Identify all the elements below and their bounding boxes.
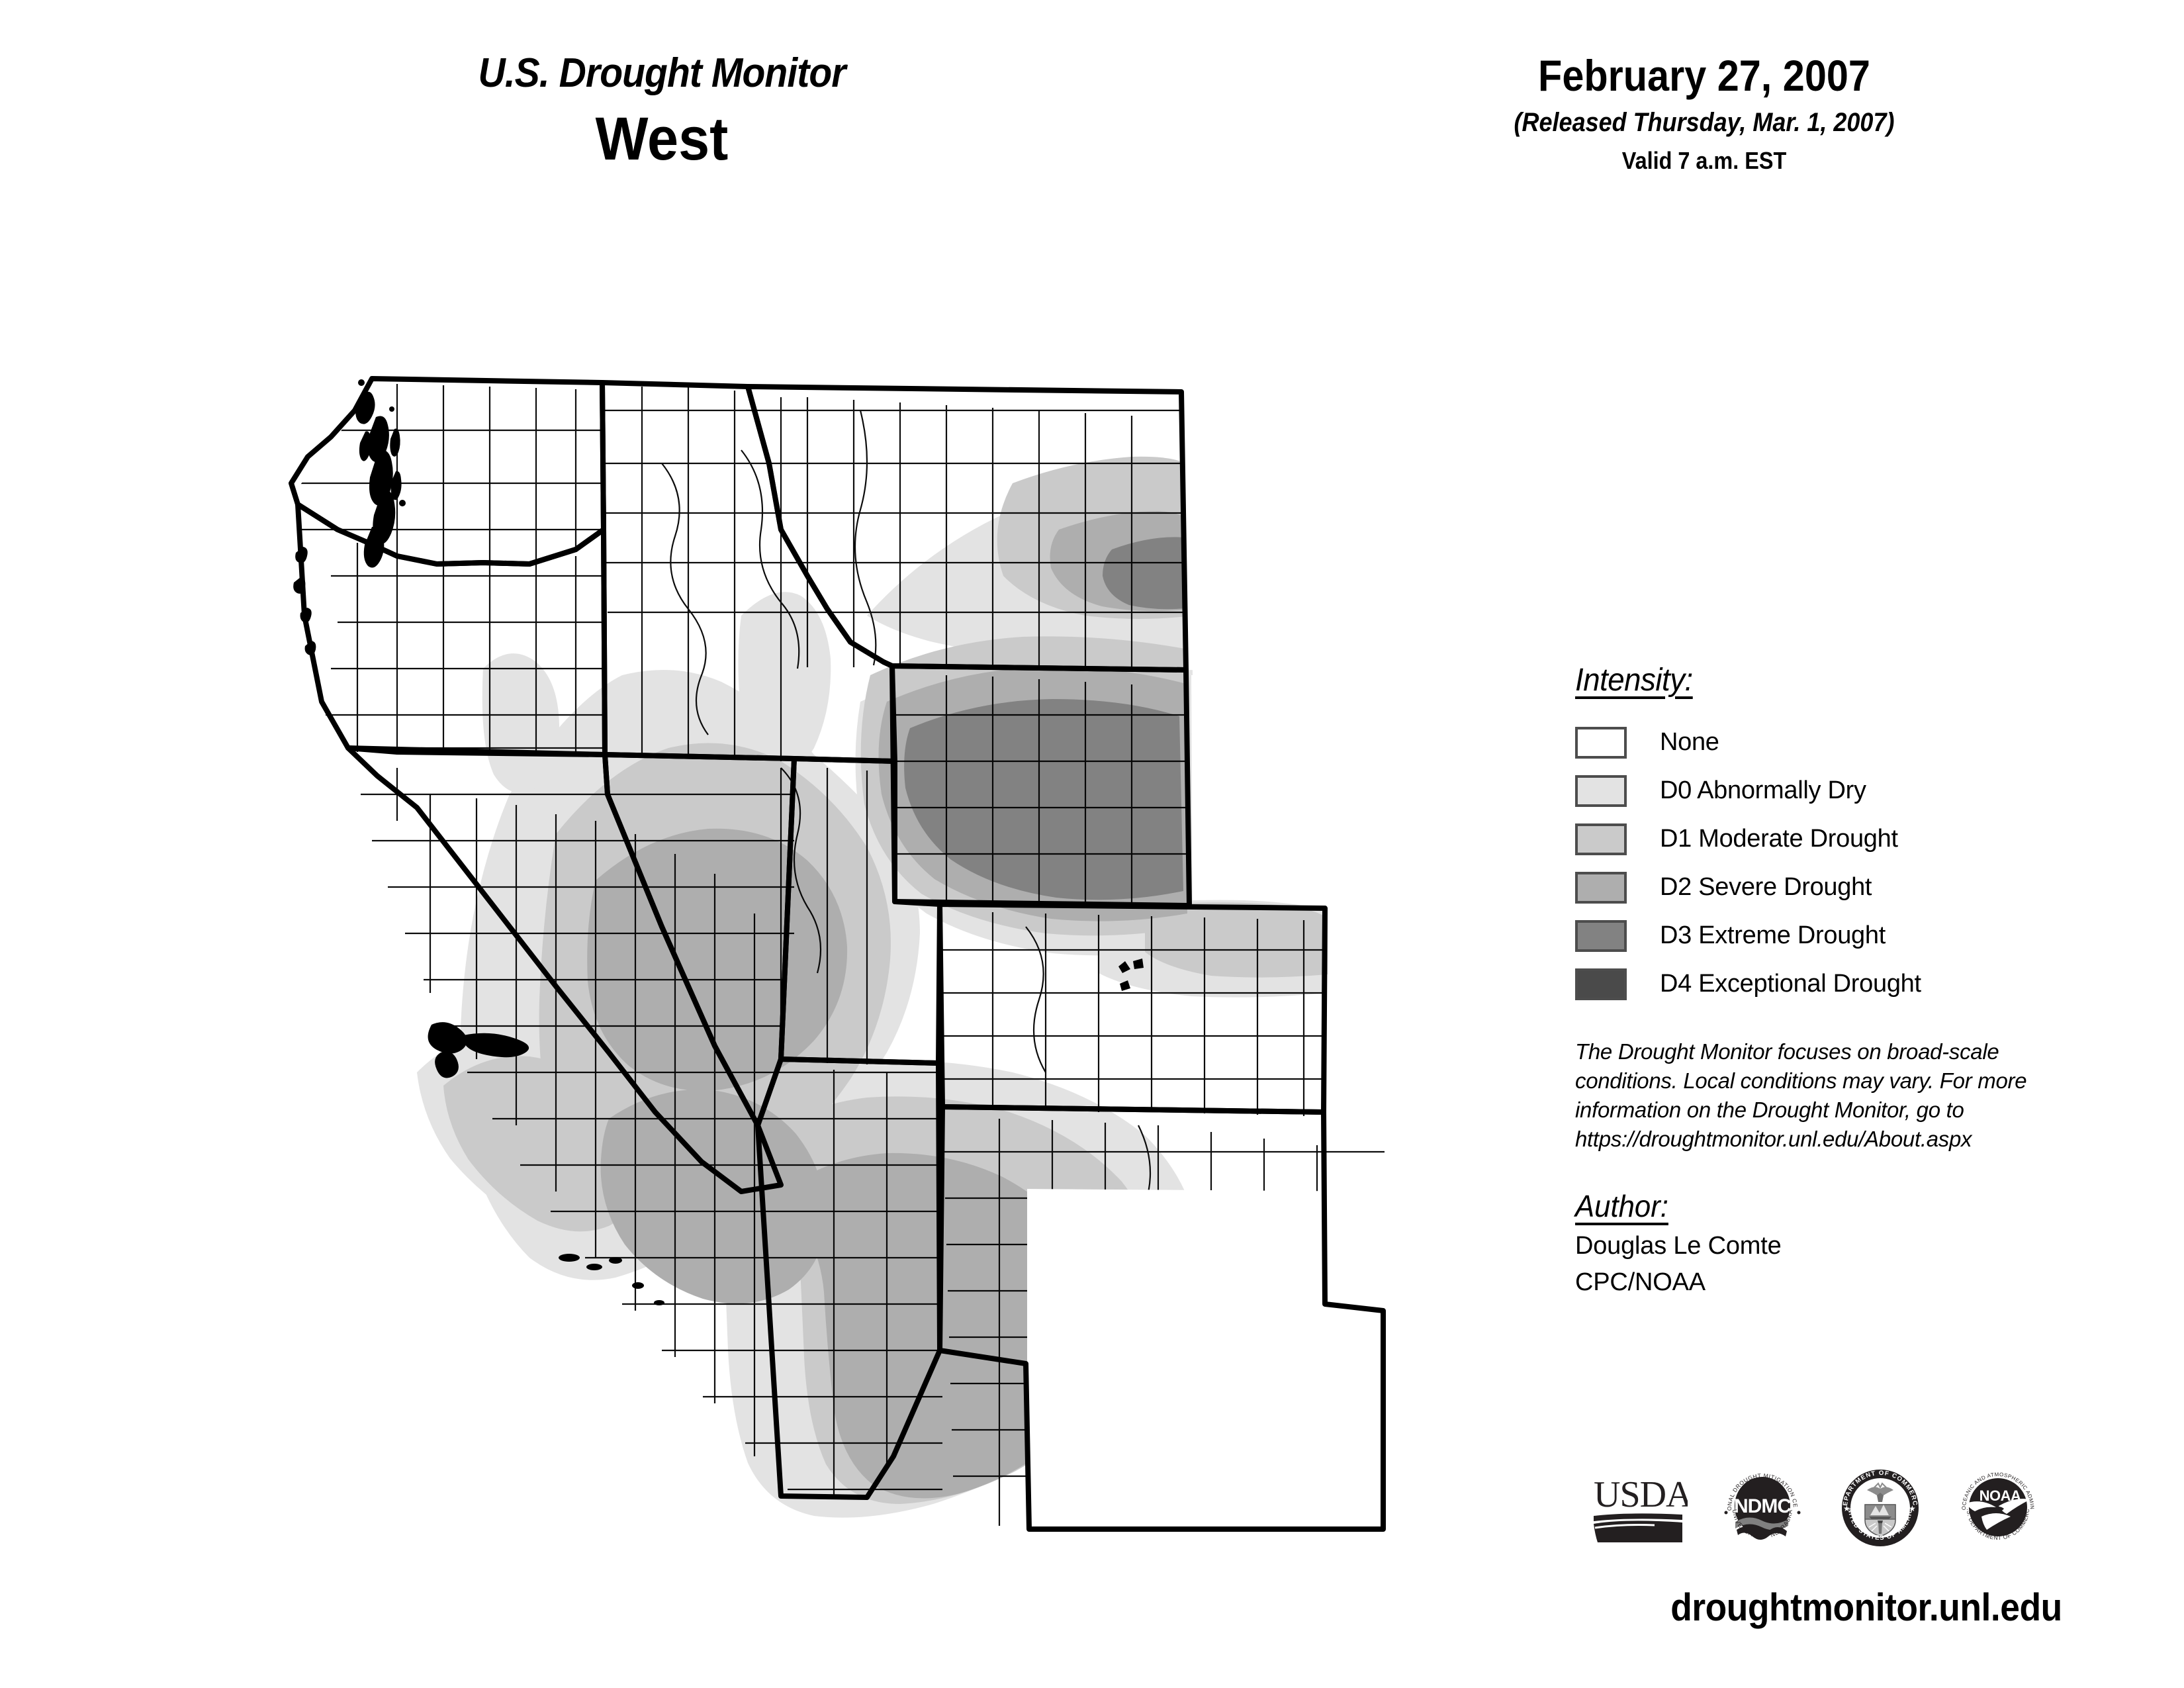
region-title: West (236, 109, 1088, 169)
legend-item-d3[interactable]: D3 Extreme Drought (1575, 912, 2158, 960)
disclaimer-text: The Drought Monitor focuses on broad-sca… (1575, 1037, 2158, 1154)
legend-label-d2: D2 Severe Drought (1660, 873, 1872, 902)
legend-item-d1[interactable]: D1 Moderate Drought (1575, 815, 2158, 863)
disclaimer-about-link[interactable]: https://droughtmonitor.unl.edu/About.asp… (1575, 1125, 2158, 1154)
disclaimer-line-3: information on the Drought Monitor, go t… (1575, 1096, 2158, 1125)
footer-url[interactable]: droughtmonitor.unl.edu (1598, 1585, 2134, 1630)
svg-text:USDA: USDA (1594, 1474, 1688, 1515)
swatch-d0 (1575, 775, 1627, 807)
page-title: U.S. Drought Monitor (236, 53, 1088, 94)
legend-label-none: None (1660, 728, 1719, 757)
date-block: February 27, 2007 (Released Thursday, Ma… (1357, 53, 2052, 174)
svg-text:NDMC: NDMC (1734, 1495, 1791, 1517)
svg-text:★: ★ (1909, 1504, 1916, 1513)
legend-list: None D0 Abnormally Dry D1 Moderate Droug… (1575, 718, 2158, 1008)
author-name: Douglas Le Comte (1575, 1232, 2158, 1260)
usda-logo: USDA (1588, 1468, 1688, 1551)
swatch-d1 (1575, 823, 1627, 855)
drought-map (199, 331, 1390, 1589)
legend-label-d0: D0 Abnormally Dry (1660, 776, 1866, 805)
noaa-logo: NOAA NATIONAL OCEANIC AND ATMOSPHERIC AD… (1955, 1465, 2041, 1554)
doc-seal: DEPARTMENT OF COMMERCE UNITED STATES OF … (1837, 1465, 1923, 1554)
logo-strip: USDA NDMC NATIONAL DROUGHT MITIGATION CE… (1588, 1450, 2118, 1569)
ndmc-logo: NDMC NATIONAL DROUGHT MITIGATION CENTER … (1719, 1465, 1805, 1554)
swatch-d3 (1575, 920, 1627, 952)
svg-text:★: ★ (1843, 1504, 1850, 1513)
legend-label-d3: D3 Extreme Drought (1660, 921, 1886, 950)
release-date: (Released Thursday, Mar. 1, 2007) (1392, 108, 2017, 137)
legend-item-d0[interactable]: D0 Abnormally Dry (1575, 767, 2158, 815)
disclaimer-line-1: The Drought Monitor focuses on broad-sca… (1575, 1037, 2158, 1066)
swatch-d2 (1575, 872, 1627, 904)
legend-item-none[interactable]: None (1575, 718, 2158, 767)
valid-date: February 27, 2007 (1392, 53, 2017, 99)
swatch-none (1575, 727, 1627, 759)
disclaimer-line-2: conditions. Local conditions may vary. F… (1575, 1066, 2158, 1096)
svg-text:NOAA: NOAA (1979, 1487, 2021, 1504)
intensity-heading: Intensity: (1575, 662, 1693, 698)
author-heading: Author: (1575, 1188, 1668, 1224)
valid-time: Valid 7 a.m. EST (1392, 148, 2017, 174)
legend-item-d2[interactable]: D2 Severe Drought (1575, 863, 2158, 912)
swatch-d4 (1575, 968, 1627, 1000)
legend-label-d1: D1 Moderate Drought (1660, 825, 1898, 853)
title-block: U.S. Drought Monitor West (199, 53, 1125, 169)
legend-sidebar: Intensity: None D0 Abnormally Dry D1 Mod… (1575, 662, 2158, 1297)
author-affiliation: CPC/NOAA (1575, 1268, 2158, 1297)
legend-label-d4: D4 Exceptional Drought (1660, 970, 1921, 998)
legend-item-d4[interactable]: D4 Exceptional Drought (1575, 960, 2158, 1008)
